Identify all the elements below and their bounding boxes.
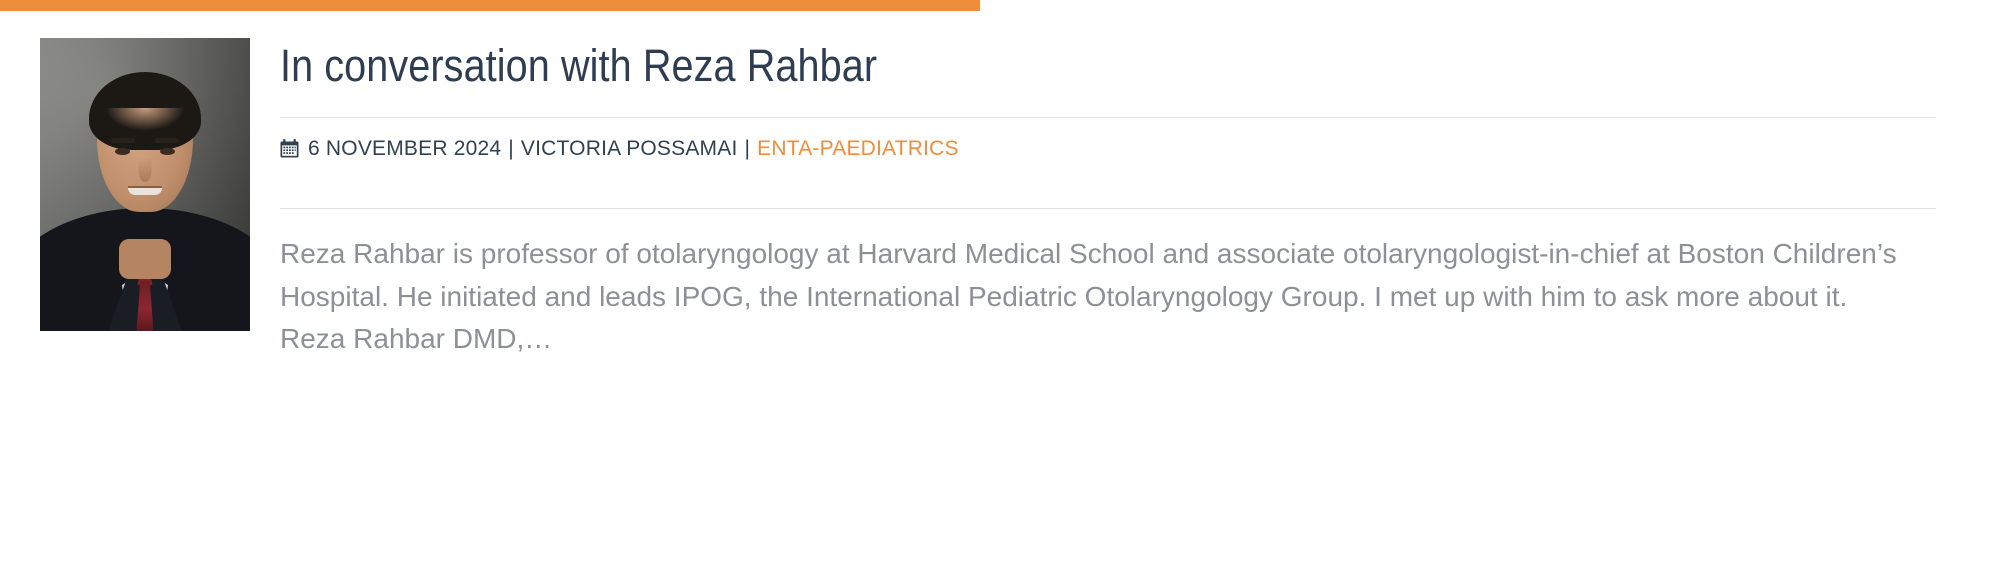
photo-mouth — [128, 188, 162, 195]
meta-separator-1: | — [501, 138, 521, 159]
orange-accent-bar — [0, 0, 980, 11]
article-excerpt: Reza Rahbar is professor of otolaryngolo… — [280, 233, 1920, 361]
article-category-link[interactable]: ENTA-PAEDIATRICS — [757, 138, 959, 159]
article-author[interactable]: VICTORIA POSSAMAI — [521, 138, 738, 159]
photo-eyebrow-right — [155, 138, 179, 143]
photo-eyebrow-left — [111, 138, 135, 143]
divider-below-meta — [280, 208, 1936, 209]
calendar-icon — [280, 139, 299, 158]
article-thumbnail-wrapper[interactable] — [40, 38, 250, 331]
meta-separator-2: | — [738, 138, 758, 159]
photo-nose — [139, 158, 152, 182]
photo-neck — [119, 239, 171, 279]
article-listing-item: In conversation with Reza Rahbar — [0, 38, 2000, 361]
article-content: In conversation with Reza Rahbar — [280, 38, 1936, 361]
article-date: 6 NOVEMBER 2024 — [308, 138, 501, 159]
article-meta: 6 NOVEMBER 2024 | VICTORIA POSSAMAI | EN… — [280, 118, 1936, 180]
photo-eye-right — [160, 148, 175, 155]
article-title[interactable]: In conversation with Reza Rahbar — [280, 42, 1737, 89]
photo-eye-left — [115, 148, 130, 155]
portrait-photo[interactable] — [40, 38, 250, 331]
